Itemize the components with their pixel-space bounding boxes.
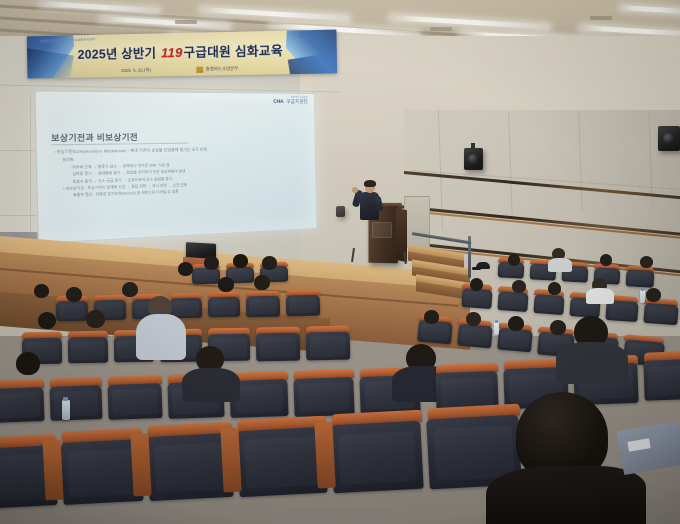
audience-head xyxy=(508,316,524,331)
audience-cap-brim-icon xyxy=(472,267,481,270)
seat-armrest xyxy=(220,428,241,493)
seat[interactable] xyxy=(643,359,680,401)
slide-logo-text: 구급지원단 xyxy=(286,99,308,105)
wall-speaker-icon xyxy=(336,206,345,217)
seat[interactable] xyxy=(457,324,493,349)
projected-slide: 충청북도소방본부 CHA 구급지원단 보상기전과 비보상기전 • 보상기전(Co… xyxy=(34,90,317,244)
bottle-cap xyxy=(495,320,499,323)
audience-head xyxy=(218,277,234,292)
audience-head xyxy=(178,262,193,276)
audience-head xyxy=(512,280,526,293)
seat-armrest xyxy=(42,440,63,501)
presenter-hand xyxy=(352,187,358,193)
auditorium-photo: 충청북도소방본부 119구급상황관리센터 충북소방 구급의 힘 2025년 상반… xyxy=(0,0,680,524)
seat[interactable] xyxy=(0,387,45,423)
slide-body: • 보상기전(Compensatory Mechanism) : 체내 기관이 … xyxy=(54,146,296,200)
audience-head xyxy=(66,287,82,302)
lectern-panel xyxy=(372,222,392,238)
seat[interactable] xyxy=(643,303,678,325)
audience-head xyxy=(640,256,653,268)
audience-head xyxy=(646,288,661,302)
projection-screen: 충청북도소방본부 CHA 구급지원단 보상기전과 비보상기전 • 보상기전(Co… xyxy=(34,90,317,244)
ceiling-light-strip xyxy=(390,15,550,29)
ceiling-vent xyxy=(430,27,452,31)
seat-armrest xyxy=(314,422,335,489)
seat[interactable] xyxy=(461,288,492,309)
seat-armrest xyxy=(130,434,151,497)
wall-speaker-icon xyxy=(658,126,680,151)
seat[interactable] xyxy=(330,421,423,494)
seat[interactable] xyxy=(107,383,162,420)
slide-logo: CHA 구급지원단 xyxy=(273,99,308,105)
audience-head xyxy=(86,310,105,328)
audience-head xyxy=(38,312,56,329)
banner-half: 상반기 xyxy=(121,46,156,61)
presenter-hair xyxy=(364,180,376,187)
event-banner: 충청북도소방본부 119구급상황관리센터 충북소방 구급의 힘 2025년 상반… xyxy=(27,30,337,79)
bottle-cap xyxy=(63,397,68,401)
seat[interactable] xyxy=(293,377,354,417)
banner-date: 2025. 5. 22.(목) xyxy=(121,68,151,74)
audience-head xyxy=(262,256,277,270)
bottle-cap xyxy=(641,288,645,291)
seat[interactable] xyxy=(533,294,564,315)
audience-seating xyxy=(0,240,680,524)
seat[interactable] xyxy=(497,328,533,353)
seat[interactable] xyxy=(286,295,320,317)
seat[interactable] xyxy=(306,332,350,361)
seat[interactable] xyxy=(256,333,300,362)
audience-shoulders xyxy=(136,314,186,360)
banner-organizer: 충청북도소방본부 xyxy=(197,66,239,73)
wall-speaker-icon xyxy=(464,148,483,170)
ceiling-light-strip xyxy=(620,5,680,14)
audience-shoulders xyxy=(586,288,614,304)
seat[interactable] xyxy=(497,291,528,312)
audience-head xyxy=(548,282,561,295)
audience-head xyxy=(34,284,49,298)
seat[interactable] xyxy=(68,337,108,364)
seat[interactable] xyxy=(626,269,655,287)
audience-shoulders xyxy=(556,342,628,384)
seat[interactable] xyxy=(236,427,327,498)
audience-head xyxy=(466,312,481,326)
seat[interactable] xyxy=(208,297,240,318)
ceiling-vent xyxy=(175,20,197,24)
audience-head xyxy=(204,256,219,270)
audience-head xyxy=(254,275,270,290)
slide-title: 보상기전과 비보상기전 xyxy=(51,131,138,144)
banner-organizer-label: 충청북도소방본부 xyxy=(206,66,239,73)
banner-year: 2025년 xyxy=(77,47,117,62)
audience-shoulders xyxy=(548,258,572,272)
audience-head xyxy=(600,254,612,266)
audience-head xyxy=(470,278,483,291)
seat[interactable] xyxy=(246,296,280,318)
seat[interactable] xyxy=(49,385,102,421)
water-bottle xyxy=(62,400,70,420)
audience-head xyxy=(233,254,248,268)
foreground-audience-shoulders xyxy=(486,466,646,524)
banner-119-logo: 119 xyxy=(160,45,184,60)
seat[interactable] xyxy=(192,268,220,284)
seat[interactable] xyxy=(56,301,88,322)
ceiling-vent xyxy=(590,16,612,20)
organizer-emblem-icon xyxy=(197,67,204,73)
water-bottle xyxy=(494,322,499,335)
audience-head xyxy=(550,320,566,335)
audience-head xyxy=(122,282,138,297)
slide-logo-mark: CHA xyxy=(273,99,283,105)
audience-head xyxy=(508,254,520,266)
audience-shoulders xyxy=(182,368,240,402)
banner-subject: 구급대원 심화교육 xyxy=(183,44,283,60)
audience-head xyxy=(16,352,40,375)
audience-head xyxy=(424,310,439,324)
water-bottle xyxy=(640,290,645,303)
